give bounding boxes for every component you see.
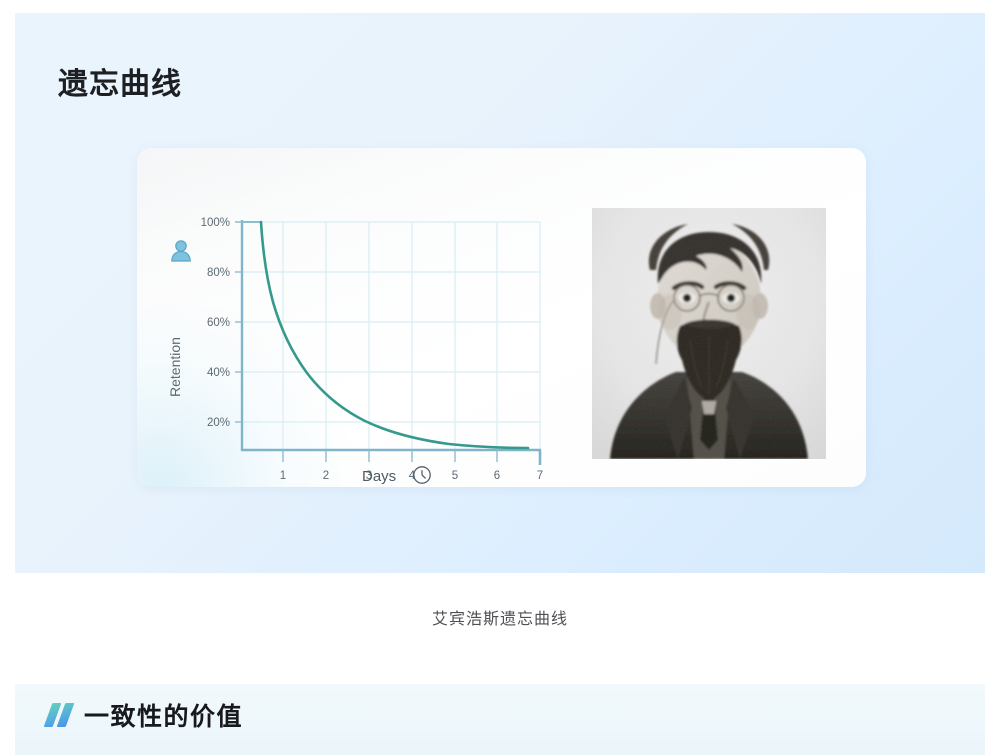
y-tick-label: 20% [207, 417, 230, 429]
chart-gridlines-vertical [283, 222, 540, 449]
x-tick-label: 6 [494, 470, 500, 482]
slide-page: 遗忘曲线 [0, 0, 1000, 755]
y-tick-label: 60% [207, 317, 230, 329]
chart-y-axis-label: Retention [167, 337, 183, 397]
x-tick-label: 2 [323, 470, 329, 482]
page-title: 遗忘曲线 [58, 65, 182, 104]
x-tick-label: 7 [537, 470, 543, 482]
forgetting-curve-chart: 100% 80% 60% 40% 20% 1 2 3 4 5 6 7 [147, 162, 557, 482]
chart-gridlines-horizontal [242, 222, 540, 422]
x-tick-label: 1 [280, 470, 286, 482]
figure-caption: 艾宾浩斯遗忘曲线 [0, 605, 1000, 629]
clock-icon [414, 467, 430, 483]
section-heading: 一致性的价值 [48, 697, 243, 733]
y-tick-label: 40% [207, 367, 230, 379]
chart-y-tick-labels: 100% 80% 60% 40% 20% [201, 217, 230, 429]
double-slash-icon [48, 703, 70, 727]
portrait-svg [592, 208, 826, 459]
person-icon [172, 241, 190, 261]
y-tick-label: 100% [201, 217, 230, 229]
figure-card: 100% 80% 60% 40% 20% 1 2 3 4 5 6 7 [137, 148, 866, 487]
ebbinghaus-portrait [592, 208, 826, 459]
chart-x-axis-label: Days [362, 468, 396, 485]
chart-x-ticks [283, 450, 497, 462]
hero-panel: 遗忘曲线 [15, 13, 985, 573]
chart-svg: 100% 80% 60% 40% 20% 1 2 3 4 5 6 7 [147, 162, 557, 482]
retention-curve [261, 222, 528, 448]
y-tick-label: 80% [207, 267, 230, 279]
section-title: 一致性的价值 [84, 697, 243, 733]
x-axis-label-group: Days [362, 462, 492, 487]
